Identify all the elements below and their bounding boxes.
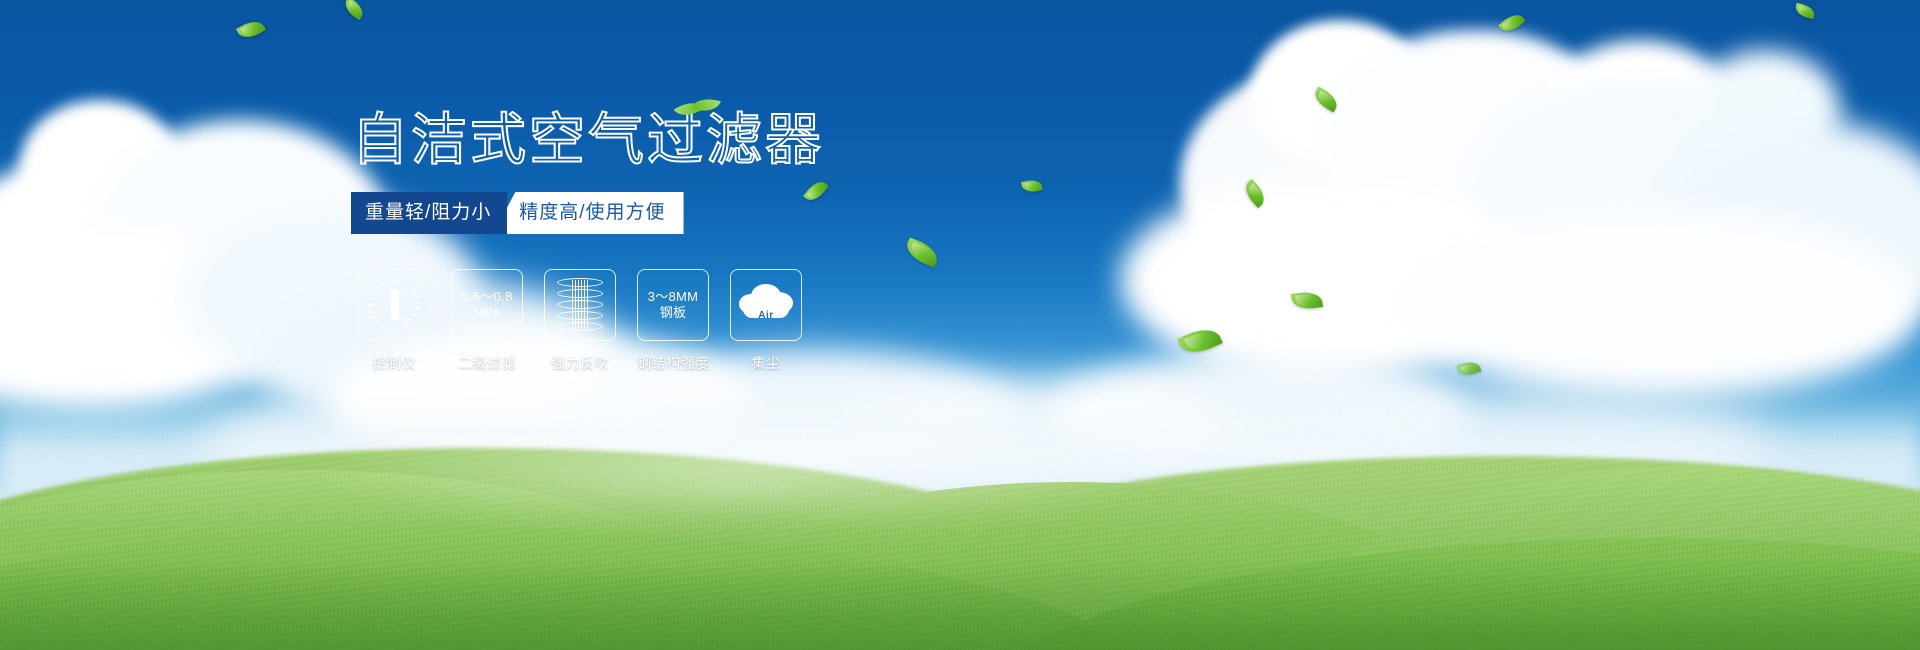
grass-highlight xyxy=(300,430,1200,530)
feature-item-dust[interactable]: Air 集尘 xyxy=(730,269,802,373)
page-title: 自洁式空气过滤器 xyxy=(352,112,824,168)
air-label: Air xyxy=(739,310,793,321)
filter-stack-icon xyxy=(557,278,603,332)
hero-banner: 自洁式空气过滤器 重量轻/阻力小 精度高/使用方便 xyxy=(0,0,1920,650)
steel-plate-text-icon: 3～8MM 钢板 xyxy=(648,289,699,321)
feature-icon-box: 0.6～0.8 MPA xyxy=(451,269,523,341)
feature-item-blowback[interactable]: 强力反吹 xyxy=(544,269,616,373)
steel-thickness: 3～8MM xyxy=(648,289,699,305)
gauge-switch-icon: NO OFF xyxy=(366,277,422,333)
grass-shadow xyxy=(0,560,1920,650)
steel-material: 钢板 xyxy=(648,305,699,321)
feature-list: NO OFF 控制仪 0.6～0.8 MPA 二级过滤 xyxy=(358,269,802,373)
feature-label: 强力反吹 xyxy=(544,353,616,373)
title-leaf-icon xyxy=(676,92,720,120)
feature-item-controller[interactable]: NO OFF 控制仪 xyxy=(358,269,430,373)
feature-label: 二级过滤 xyxy=(451,353,523,373)
feature-label: 集尘 xyxy=(730,353,802,373)
feature-label: 钢结构强度 xyxy=(637,353,709,373)
feature-icon-box: 3～8MM 钢板 xyxy=(637,269,709,341)
badge-group: 重量轻/阻力小 精度高/使用方便 xyxy=(351,192,684,234)
feature-item-pressure[interactable]: 0.6～0.8 MPA 二级过滤 xyxy=(451,269,523,373)
pressure-value: 0.6～0.8 xyxy=(461,289,512,305)
feature-item-steel[interactable]: 3～8MM 钢板 钢结构强度 xyxy=(637,269,709,373)
pressure-unit: MPA xyxy=(461,305,512,321)
grass-field xyxy=(0,430,1920,650)
badge-precision[interactable]: 精度高/使用方便 xyxy=(493,192,683,234)
air-cloud-icon: Air xyxy=(739,284,793,326)
pressure-text-icon: 0.6～0.8 MPA xyxy=(461,289,512,321)
gauge-label-off: OFF xyxy=(402,318,413,324)
feature-icon-box: NO OFF xyxy=(358,269,430,341)
gauge-label-no: NO xyxy=(367,303,375,309)
feature-icon-box: Air xyxy=(730,269,802,341)
feature-label: 控制仪 xyxy=(358,353,430,373)
gauge-knob xyxy=(391,289,399,321)
badge-lightweight[interactable]: 重量轻/阻力小 xyxy=(351,192,507,234)
feature-icon-box xyxy=(544,269,616,341)
